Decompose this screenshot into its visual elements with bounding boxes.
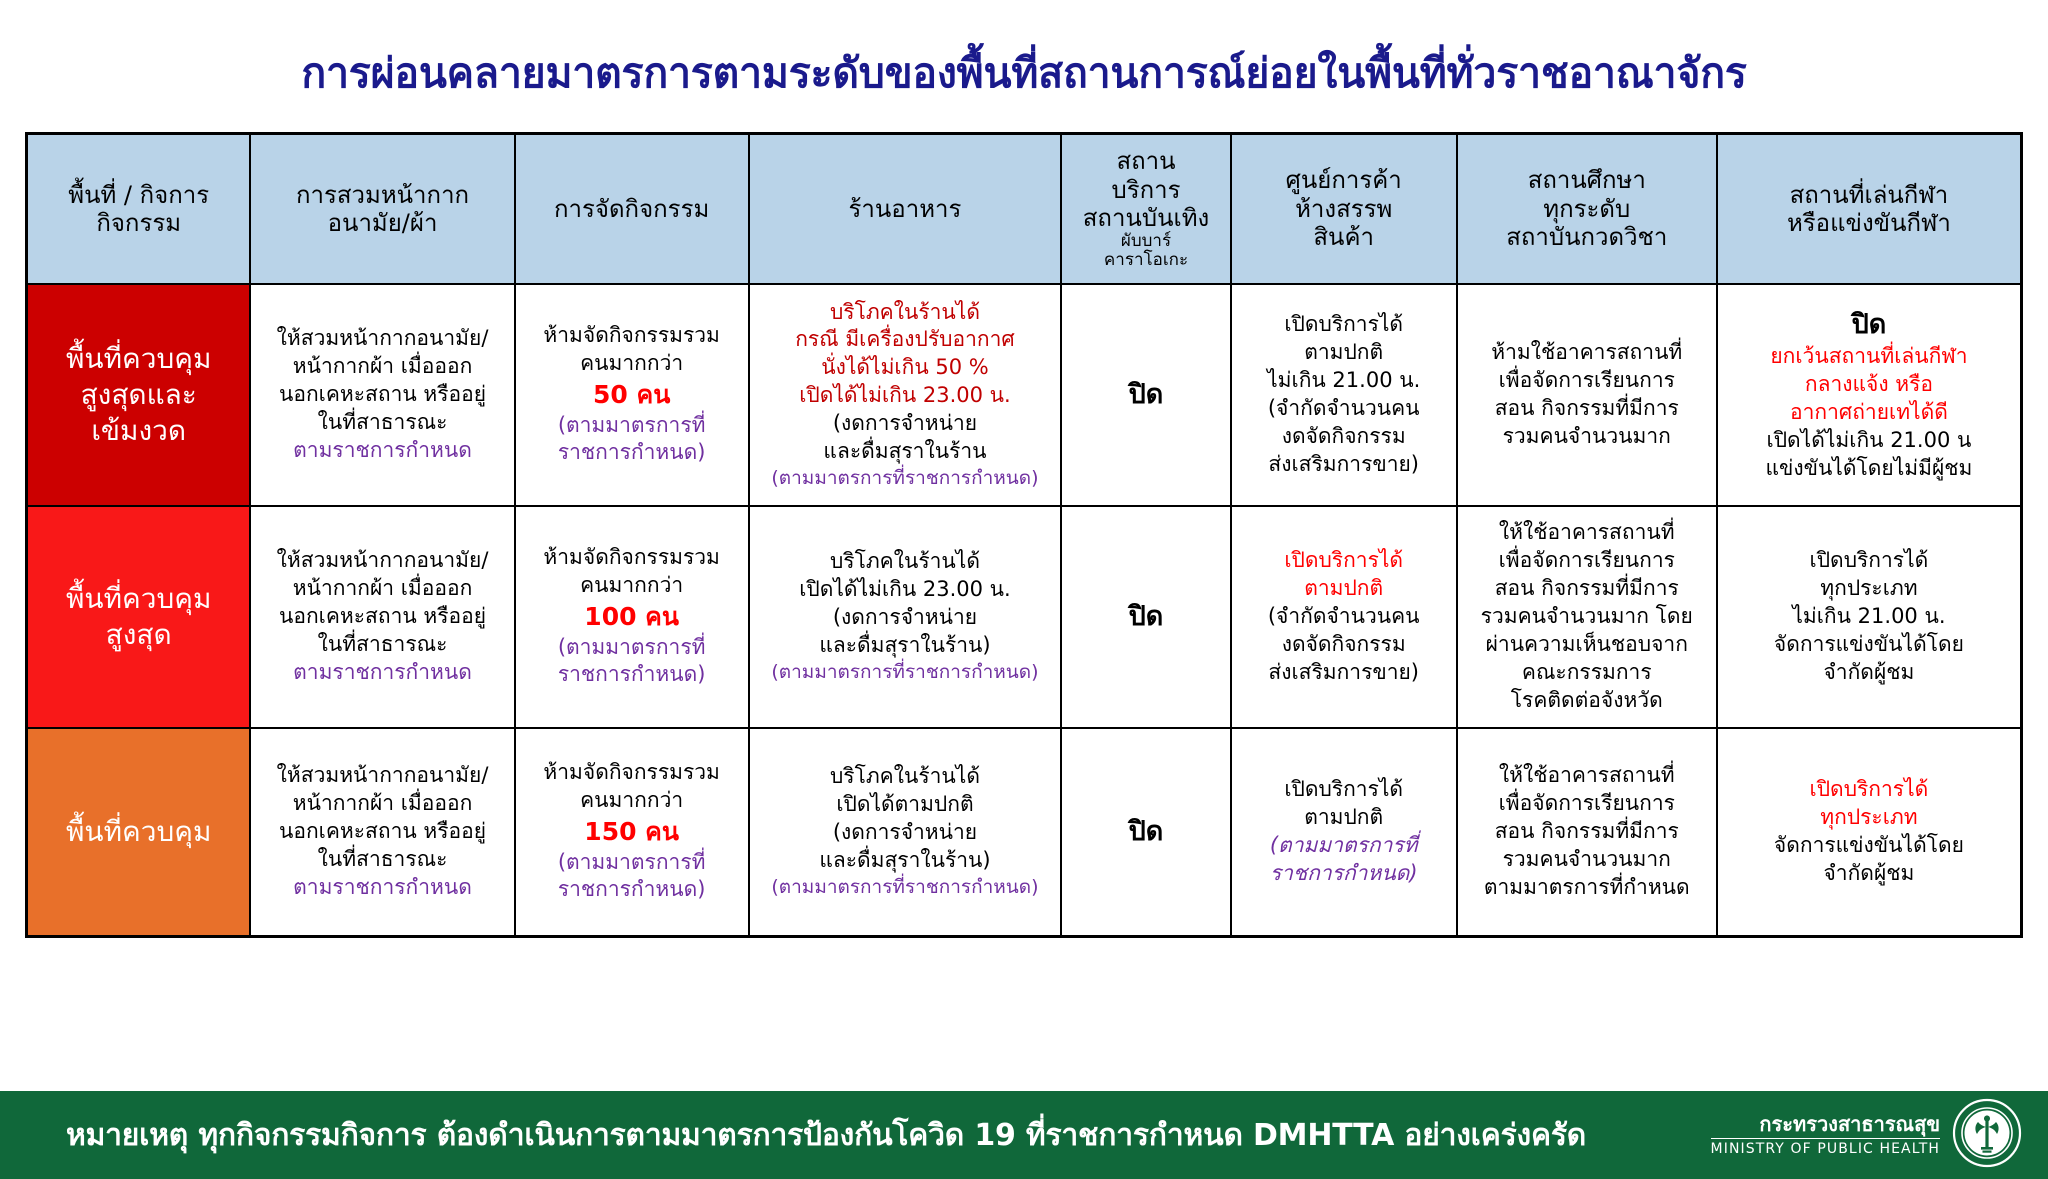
cell-line: เปิดบริการได้ (1238, 776, 1450, 804)
cell-line: (ตามมาตรการที่ (522, 849, 742, 877)
cell-entertainment: ปิด (1061, 284, 1230, 506)
cell-line: ปิด (1724, 307, 2014, 343)
cell-line: ให้สวมหน้ากากอนามัย/ (257, 547, 507, 575)
cell-line: ในที่สาธารณะ (257, 409, 507, 437)
cell-line: เปิดได้ไม่เกิน 23.00 น. (756, 382, 1055, 410)
header-restaurant: ร้านอาหาร (749, 133, 1062, 284)
cell-activity: ห้ามจัดกิจกรรมรวมคนมากกว่า50 คน(ตามมาตรก… (515, 284, 749, 506)
cell-line: หน้ากากผ้า เมื่อออก (257, 353, 507, 381)
cell-line: ปิด (1068, 377, 1223, 413)
table-header-row: พื้นที่ / กิจการกิจกรรม การสวมหน้ากากอนา… (27, 133, 2022, 284)
cell-line: ให้ใช้อาคารสถานที่ (1464, 762, 1710, 790)
cell-line: และดื่มสุราในร้าน) (756, 847, 1055, 875)
ministry-logo-text: กระทรวงสาธารณสุข MINISTRY OF PUBLIC HEAL… (1711, 1113, 1940, 1157)
cell-line: ราชการกำหนด) (522, 661, 742, 689)
area-level-line: สูงสุดและ (34, 377, 243, 413)
ministry-name-th: กระทรวงสาธารณสุข (1711, 1113, 1940, 1139)
cell-line: (ตามมาตรการที่ราชการกำหนด) (756, 466, 1055, 491)
cell-text: ปิดยกเว้นสถานที่เล่นกีฬากลางแจ้ง หรืออาก… (1724, 307, 2014, 483)
header-line: สถานศึกษา (1464, 166, 1710, 194)
cell-school: ห้ามใช้อาคารสถานที่เพื่อจัดการเรียนการสอ… (1457, 284, 1717, 506)
cell-line: ตามปกติ (1238, 339, 1450, 367)
table-row: พื้นที่ควบคุมให้สวมหน้ากากอนามัย/หน้ากาก… (27, 728, 2022, 937)
cell-line: จำกัดผู้ชม (1724, 659, 2014, 687)
cell-activity: ห้ามจัดกิจกรรมรวมคนมากกว่า150 คน(ตามมาตร… (515, 728, 749, 937)
cell-school: ให้ใช้อาคารสถานที่เพื่อจัดการเรียนการสอน… (1457, 728, 1717, 937)
header-line: ผับบาร์ (1068, 232, 1223, 251)
cell-line: ส่งเสริมการขาย) (1238, 659, 1450, 687)
cell-line: (ตามมาตรการที่ (522, 412, 742, 440)
header-mask: การสวมหน้ากากอนามัย/ผ้า (250, 133, 514, 284)
cell-line: กลางแจ้ง หรือ (1724, 371, 2014, 399)
cell-text: บริโภคในร้านได้เปิดได้ตามปกติ(งดการจำหน่… (756, 763, 1055, 900)
cell-line: เปิดได้ตามปกติ (756, 791, 1055, 819)
cell-line: (งดการจำหน่าย (756, 410, 1055, 438)
cell-text: เปิดบริการได้ตามปกติ(จำกัดจำนวนคนงดจัดกิ… (1238, 547, 1450, 687)
cell-line: บริโภคในร้านได้ (756, 299, 1055, 327)
cell-activity: ห้ามจัดกิจกรรมรวมคนมากกว่า100 คน(ตามมาตร… (515, 506, 749, 728)
cell-mall: เปิดบริการได้ตามปกติ(จำกัดจำนวนคนงดจัดกิ… (1231, 506, 1457, 728)
header-line: หรือแข่งขันกีฬา (1724, 209, 2014, 237)
cell-line: คนมากกว่า (522, 350, 742, 378)
cell-line: (ตามมาตรการที่ราชการกำหนด) (756, 660, 1055, 685)
cell-mall: เปิดบริการได้ตามปกติไม่เกิน 21.00 น.(จำก… (1231, 284, 1457, 506)
header-line: สถาน (1068, 147, 1223, 175)
header-line: การสวมหน้ากาก (257, 181, 507, 209)
cell-text: ห้ามจัดกิจกรรมรวมคนมากกว่า100 คน(ตามมาตร… (522, 544, 742, 689)
cell-mall: เปิดบริการได้ตามปกติ(ตามมาตรการที่ราชการ… (1231, 728, 1457, 937)
cell-line: ตามปกติ (1238, 575, 1450, 603)
cell-text: เปิดบริการได้ทุกประเภทไม่เกิน 21.00 น.จั… (1724, 547, 2014, 687)
header-mall: ศูนย์การค้าห้างสรรพสินค้า (1231, 133, 1457, 284)
cell-line: ให้ใช้อาคารสถานที่ (1464, 519, 1710, 547)
cell-line: เปิดบริการได้ (1238, 311, 1450, 339)
header-line: อนามัย/ผ้า (257, 209, 507, 237)
area-level-label: พื้นที่ควบคุมสูงสุด (27, 506, 251, 728)
cell-line: 50 คน (522, 378, 742, 411)
cell-line: ห้ามใช้อาคารสถานที่ (1464, 339, 1710, 367)
cell-text: ปิด (1068, 599, 1223, 635)
cell-text: ปิด (1068, 377, 1223, 413)
header-school: สถานศึกษาทุกระดับสถาบันกวดวิชา (1457, 133, 1717, 284)
cell-line: เพื่อจัดการเรียนการ (1464, 790, 1710, 818)
cell-line: ห้ามจัดกิจกรรมรวม (522, 322, 742, 350)
header-line: บริการ (1068, 176, 1223, 204)
cell-line: ห้ามจัดกิจกรรมรวม (522, 759, 742, 787)
header-line: คาราโอเกะ (1068, 251, 1223, 270)
cell-text: ห้ามจัดกิจกรรมรวมคนมากกว่า150 คน(ตามมาตร… (522, 759, 742, 904)
cell-line: นอกเคหะสถาน หรืออยู่ (257, 381, 507, 409)
cell-line: ห้ามจัดกิจกรรมรวม (522, 544, 742, 572)
cell-line: ตามราชการกำหนด (257, 659, 507, 687)
page-title: การผ่อนคลายมาตรการตามระดับของพื้นที่สถาน… (0, 27, 2048, 104)
cell-line: เปิดได้ไม่เกิน 23.00 น. (756, 576, 1055, 604)
cell-line: งดจัดกิจกรรม (1238, 423, 1450, 451)
cell-line: ให้สวมหน้ากากอนามัย/ (257, 762, 507, 790)
header-line: ร้านอาหาร (756, 195, 1055, 223)
cell-line: บริโภคในร้านได้ (756, 548, 1055, 576)
cell-line: นั่งได้ไม่เกิน 50 % (756, 354, 1055, 382)
cell-line: ราชการกำหนด) (1238, 860, 1450, 888)
cell-line: ตามปกติ (1238, 804, 1450, 832)
header-line: สถานที่เล่นกีฬา (1724, 181, 2014, 209)
cell-line: เปิดบริการได้ (1238, 547, 1450, 575)
area-level-label: พื้นที่ควบคุม (27, 728, 251, 937)
cell-line: หน้ากากผ้า เมื่อออก (257, 575, 507, 603)
cell-line: คนมากกว่า (522, 572, 742, 600)
cell-text: เปิดบริการได้ตามปกติไม่เกิน 21.00 น.(จำก… (1238, 311, 1450, 479)
cell-line: สอน กิจกรรมที่มีการ (1464, 575, 1710, 603)
cell-text: ให้ใช้อาคารสถานที่เพื่อจัดการเรียนการสอน… (1464, 762, 1710, 902)
cell-line: ทุกประเภท (1724, 804, 2014, 832)
cell-line: ทุกประเภท (1724, 575, 2014, 603)
cell-line: (งดการจำหน่าย (756, 604, 1055, 632)
header-area: พื้นที่ / กิจการกิจกรรม (27, 133, 251, 284)
cell-text: เปิดบริการได้ทุกประเภทจัดการแข่งขันได้โด… (1724, 776, 2014, 888)
cell-sport: ปิดยกเว้นสถานที่เล่นกีฬากลางแจ้ง หรืออาก… (1717, 284, 2022, 506)
cell-line: ไม่เกิน 21.00 น. (1724, 603, 2014, 631)
cell-line: ยกเว้นสถานที่เล่นกีฬา (1724, 343, 2014, 371)
cell-line: ปิด (1068, 599, 1223, 635)
cell-line: บริโภคในร้านได้ (756, 763, 1055, 791)
cell-text: ห้ามใช้อาคารสถานที่เพื่อจัดการเรียนการสอ… (1464, 339, 1710, 451)
table-row: พื้นที่ควบคุมสูงสุดให้สวมหน้ากากอนามัย/ห… (27, 506, 2022, 728)
cell-line: (ตามมาตรการที่ (1238, 832, 1450, 860)
cell-restaurant: บริโภคในร้านได้เปิดได้ไม่เกิน 23.00 น.(ง… (749, 506, 1062, 728)
header-line: ศูนย์การค้า (1238, 166, 1450, 194)
cell-line: ตามมาตรการที่กำหนด (1464, 874, 1710, 902)
cell-text: เปิดบริการได้ตามปกติ(ตามมาตรการที่ราชการ… (1238, 776, 1450, 888)
cell-line: รวมคนจำนวนมาก โดย (1464, 603, 1710, 631)
cell-text: ให้ใช้อาคารสถานที่เพื่อจัดการเรียนการสอน… (1464, 519, 1710, 714)
cell-line: รวมคนจำนวนมาก (1464, 846, 1710, 874)
cell-mask: ให้สวมหน้ากากอนามัย/หน้ากากผ้า เมื่อออกน… (250, 284, 514, 506)
cell-restaurant: บริโภคในร้านได้เปิดได้ตามปกติ(งดการจำหน่… (749, 728, 1062, 937)
cell-line: ราชการกำหนด) (522, 439, 742, 467)
ministry-name-en: MINISTRY OF PUBLIC HEALTH (1711, 1139, 1940, 1157)
cell-text: บริโภคในร้านได้กรณี มีเครื่องปรับอากาศนั… (756, 299, 1055, 492)
cell-line: ผ่านความเห็นชอบจาก (1464, 631, 1710, 659)
cell-entertainment: ปิด (1061, 728, 1230, 937)
cell-line: ราชการกำหนด) (522, 876, 742, 904)
header-line: การจัดกิจกรรม (522, 195, 742, 223)
cell-line: ให้สวมหน้ากากอนามัย/ (257, 325, 507, 353)
cell-restaurant: บริโภคในร้านได้กรณี มีเครื่องปรับอากาศนั… (749, 284, 1062, 506)
area-level-line: สูงสุด (34, 617, 243, 653)
cell-line: จำกัดผู้ชม (1724, 860, 2014, 888)
cell-line: ตามราชการกำหนด (257, 437, 507, 465)
cell-line: เพื่อจัดการเรียนการ (1464, 367, 1710, 395)
cell-school: ให้ใช้อาคารสถานที่เพื่อจัดการเรียนการสอน… (1457, 506, 1717, 728)
cell-line: จัดการแข่งขันได้โดย (1724, 631, 2014, 659)
header-sport: สถานที่เล่นกีฬาหรือแข่งขันกีฬา (1717, 133, 2022, 284)
measures-table: พื้นที่ / กิจการกิจกรรม การสวมหน้ากากอนา… (25, 132, 2023, 938)
cell-sport: เปิดบริการได้ทุกประเภทไม่เกิน 21.00 น.จั… (1717, 506, 2022, 728)
cell-text: ให้สวมหน้ากากอนามัย/หน้ากากผ้า เมื่อออกน… (257, 547, 507, 687)
cell-line: เปิดบริการได้ (1724, 547, 2014, 575)
cell-line: สอน กิจกรรมที่มีการ (1464, 395, 1710, 423)
header-line: ทุกระดับ (1464, 195, 1710, 223)
ministry-logo: กระทรวงสาธารณสุข MINISTRY OF PUBLIC HEAL… (1711, 1098, 2048, 1172)
header-line: สินค้า (1238, 223, 1450, 251)
cell-line: ปิด (1068, 814, 1223, 850)
cell-line: คนมากกว่า (522, 787, 742, 815)
cell-line: (ตามมาตรการที่ราชการกำหนด) (756, 875, 1055, 900)
cell-line: กรณี มีเครื่องปรับอากาศ (756, 326, 1055, 354)
cell-line: ในที่สาธารณะ (257, 846, 507, 874)
cell-line: เปิดได้ไม่เกิน 21.00 น (1724, 427, 2014, 455)
header-activity: การจัดกิจกรรม (515, 133, 749, 284)
header-line: สถาบันกวดวิชา (1464, 223, 1710, 251)
cell-text: บริโภคในร้านได้เปิดได้ไม่เกิน 23.00 น.(ง… (756, 548, 1055, 685)
cell-line: คณะกรรมการ (1464, 659, 1710, 687)
cell-mask: ให้สวมหน้ากากอนามัย/หน้ากากผ้า เมื่อออกน… (250, 728, 514, 937)
area-level-line: พื้นที่ควบคุม (34, 341, 243, 377)
cell-line: 150 คน (522, 815, 742, 848)
header-line: พื้นที่ / กิจการ (34, 181, 243, 209)
header-entertainment: สถานบริการสถานบันเทิง ผับบาร์คาราโอเกะ (1061, 133, 1230, 284)
ministry-seal-icon (1952, 1098, 2022, 1172)
header-line: ห้างสรรพ (1238, 195, 1450, 223)
area-level-line: เข้มงวด (34, 413, 243, 449)
area-level-line: พื้นที่ควบคุม (34, 814, 243, 850)
cell-text: ปิด (1068, 814, 1223, 850)
cell-line: แข่งขันได้โดยไม่มีผู้ชม (1724, 455, 2014, 483)
cell-line: (จำกัดจำนวนคน (1238, 395, 1450, 423)
cell-line: นอกเคหะสถาน หรืออยู่ (257, 818, 507, 846)
cell-line: ไม่เกิน 21.00 น. (1238, 367, 1450, 395)
cell-line: (งดการจำหน่าย (756, 819, 1055, 847)
cell-line: ส่งเสริมการขาย) (1238, 451, 1450, 479)
cell-line: และดื่มสุราในร้าน (756, 438, 1055, 466)
cell-line: เพื่อจัดการเรียนการ (1464, 547, 1710, 575)
cell-entertainment: ปิด (1061, 506, 1230, 728)
cell-line: ตามราชการกำหนด (257, 874, 507, 902)
cell-text: ห้ามจัดกิจกรรมรวมคนมากกว่า50 คน(ตามมาตรก… (522, 322, 742, 467)
cell-line: 100 คน (522, 600, 742, 633)
header-line: สถานบันเทิง (1068, 204, 1223, 232)
header-line: กิจกรรม (34, 209, 243, 237)
cell-line: เปิดบริการได้ (1724, 776, 2014, 804)
cell-line: หน้ากากผ้า เมื่อออก (257, 790, 507, 818)
table-row: พื้นที่ควบคุมสูงสุดและเข้มงวดให้สวมหน้าก… (27, 284, 2022, 506)
cell-line: นอกเคหะสถาน หรืออยู่ (257, 603, 507, 631)
cell-line: (ตามมาตรการที่ (522, 634, 742, 662)
cell-line: งดจัดกิจกรรม (1238, 631, 1450, 659)
cell-line: และดื่มสุราในร้าน) (756, 632, 1055, 660)
cell-line: ในที่สาธารณะ (257, 631, 507, 659)
cell-line: สอน กิจกรรมที่มีการ (1464, 818, 1710, 846)
cell-line: จัดการแข่งขันได้โดย (1724, 832, 2014, 860)
table-body: พื้นที่ควบคุมสูงสุดและเข้มงวดให้สวมหน้าก… (27, 284, 2022, 937)
footer-bar: หมายเหตุ ทุกกิจกรรมกิจการ ต้องดำเนินการต… (0, 1091, 2048, 1179)
cell-text: ให้สวมหน้ากากอนามัย/หน้ากากผ้า เมื่อออกน… (257, 762, 507, 902)
area-level-label: พื้นที่ควบคุมสูงสุดและเข้มงวด (27, 284, 251, 506)
cell-mask: ให้สวมหน้ากากอนามัย/หน้ากากผ้า เมื่อออกน… (250, 506, 514, 728)
cell-line: (จำกัดจำนวนคน (1238, 603, 1450, 631)
cell-line: รวมคนจำนวนมาก (1464, 423, 1710, 451)
cell-line: อากาศถ่ายเทได้ดี (1724, 399, 2014, 427)
cell-text: ให้สวมหน้ากากอนามัย/หน้ากากผ้า เมื่อออกน… (257, 325, 507, 465)
cell-sport: เปิดบริการได้ทุกประเภทจัดการแข่งขันได้โด… (1717, 728, 2022, 937)
cell-line: โรคติดต่อจังหวัด (1464, 687, 1710, 715)
area-level-line: พื้นที่ควบคุม (34, 581, 243, 617)
